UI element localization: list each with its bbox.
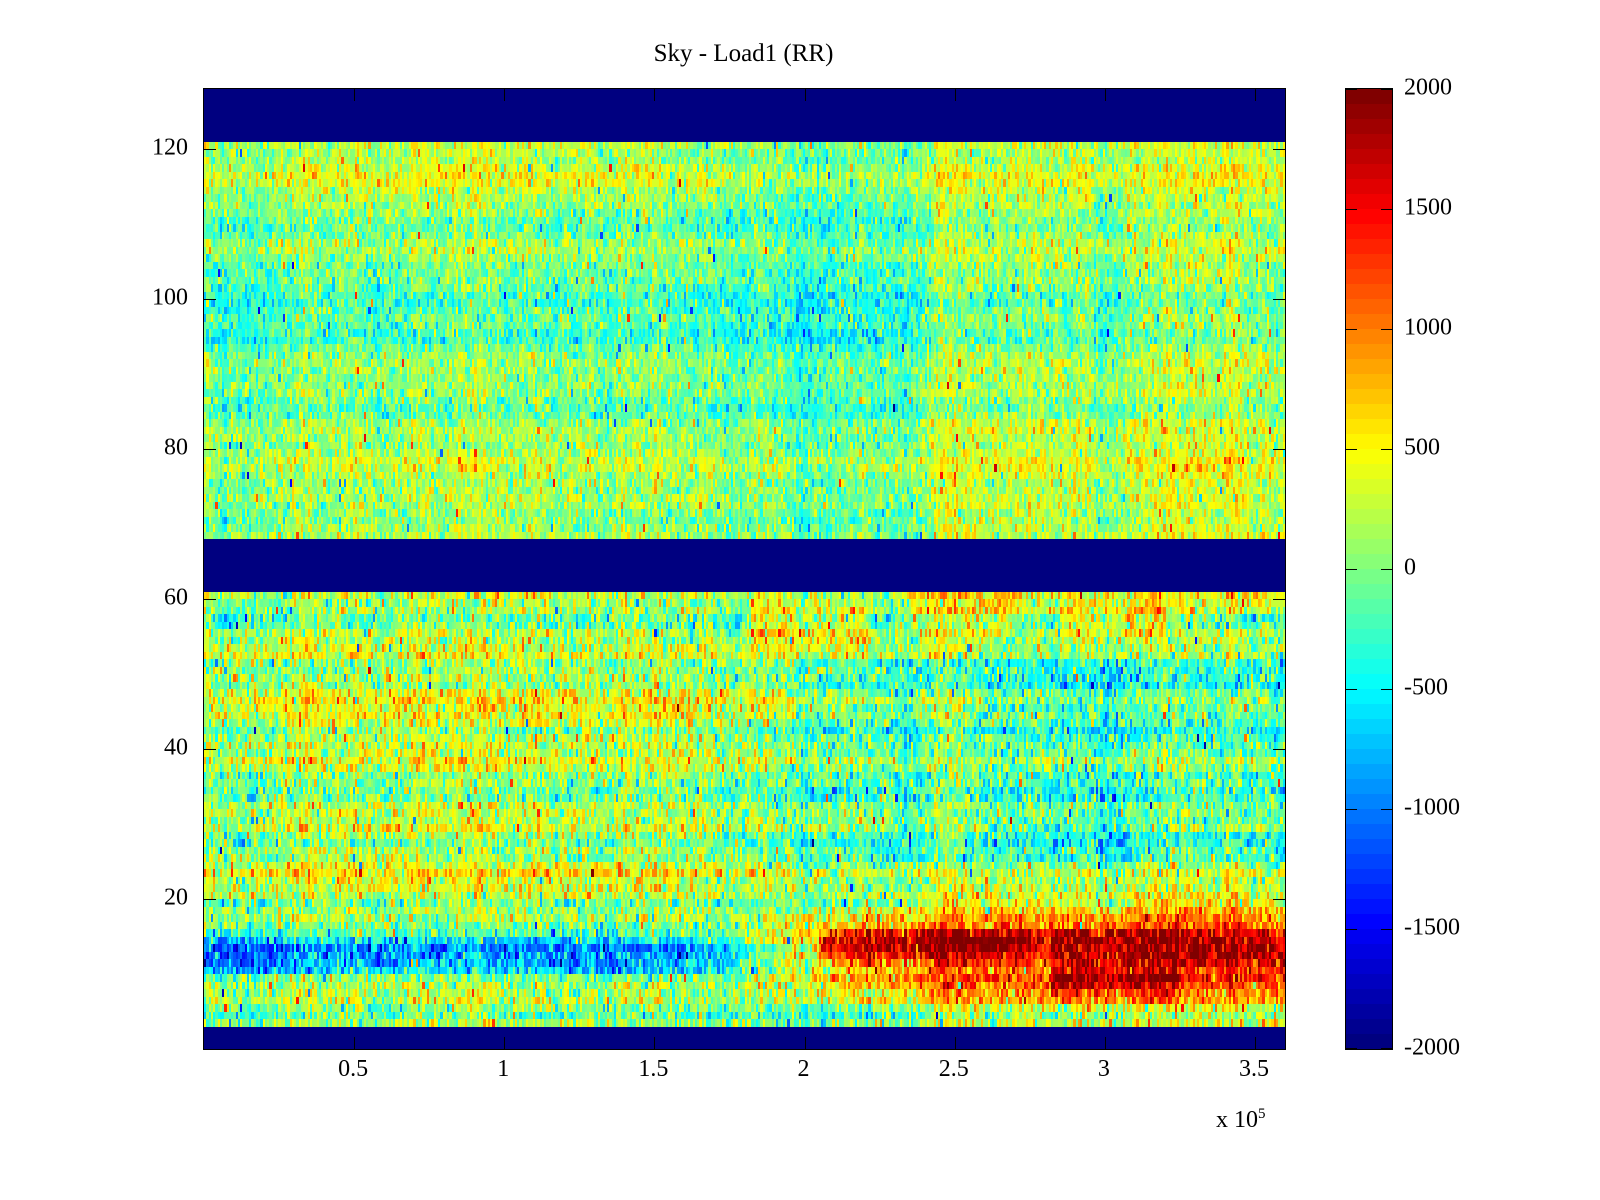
colorbar-tick — [1381, 449, 1392, 450]
colorbar-tick — [1381, 329, 1392, 330]
x-axis-exponent-label: x 105 — [1216, 1106, 1266, 1134]
y-axis-tick — [204, 899, 216, 900]
colorbar-tick — [1346, 689, 1357, 690]
x-axis-tick — [654, 1037, 655, 1049]
colorbar-tick-label: -2000 — [1404, 1035, 1460, 1062]
x-axis-tick — [504, 89, 505, 101]
colorbar-tick-label: 1500 — [1404, 195, 1452, 222]
colorbar[interactable] — [1345, 88, 1393, 1050]
y-axis-tick — [204, 749, 216, 750]
x-axis-tick-label: 0.5 — [338, 1056, 368, 1083]
y-axis-tick-label: 60 — [164, 585, 188, 612]
x-axis-tick-label: 1 — [497, 1056, 509, 1083]
y-axis-tick-label: 100 — [152, 285, 188, 312]
page-title: Sky - Load1 (RR) — [203, 40, 1284, 68]
x-exponent-base: x 10 — [1216, 1107, 1258, 1133]
y-axis-tick-label: 120 — [152, 135, 188, 162]
x-axis-tick — [1255, 1037, 1256, 1049]
colorbar-tick — [1346, 449, 1357, 450]
x-exponent-power: 5 — [1258, 1106, 1266, 1122]
colorbar-tick — [1381, 209, 1392, 210]
colorbar-tick — [1346, 89, 1357, 90]
y-axis-tick — [204, 149, 216, 150]
colorbar-tick-label: 1000 — [1404, 315, 1452, 342]
y-axis-tick — [1273, 299, 1285, 300]
colorbar-tick-label: -1000 — [1404, 795, 1460, 822]
x-axis-tick — [1105, 89, 1106, 101]
x-axis-tick — [805, 1037, 806, 1049]
y-axis-tick-label: 80 — [164, 435, 188, 462]
colorbar-tick-label: -1500 — [1404, 915, 1460, 942]
x-axis-tick — [354, 89, 355, 101]
y-axis-tick — [1273, 899, 1285, 900]
colorbar-tick-label: 500 — [1404, 435, 1440, 462]
colorbar-tick — [1381, 929, 1392, 930]
colorbar-tick — [1346, 1048, 1357, 1049]
colorbar-tick — [1381, 569, 1392, 570]
x-axis-tick-label: 3.5 — [1239, 1056, 1269, 1083]
x-axis-tick — [955, 89, 956, 101]
x-axis-tick-label: 1.5 — [638, 1056, 668, 1083]
y-axis-tick — [1273, 149, 1285, 150]
heatmap-image — [204, 89, 1285, 1049]
x-axis-tick — [654, 89, 655, 101]
colorbar-tick — [1346, 569, 1357, 570]
colorbar-tick — [1381, 809, 1392, 810]
colorbar-tick — [1346, 809, 1357, 810]
y-axis-tick-label: 40 — [164, 735, 188, 762]
colorbar-tick — [1346, 929, 1357, 930]
y-axis-tick — [1273, 599, 1285, 600]
x-axis-tick — [504, 1037, 505, 1049]
colorbar-tick-label: 0 — [1404, 555, 1416, 582]
x-axis-tick — [1105, 1037, 1106, 1049]
colorbar-tick — [1381, 1048, 1392, 1049]
x-axis-tick — [805, 89, 806, 101]
y-axis-tick — [204, 299, 216, 300]
heatmap-axes[interactable] — [203, 88, 1286, 1050]
matlab-figure-window: Sky - Load1 (RR) 204060801001200.511.522… — [0, 0, 1600, 1200]
x-axis-tick-label: 2 — [798, 1056, 810, 1083]
colorbar-tick-label: 2000 — [1404, 75, 1452, 102]
y-axis-tick — [204, 599, 216, 600]
colorbar-tick — [1346, 209, 1357, 210]
x-axis-tick — [955, 1037, 956, 1049]
colorbar-tick — [1381, 89, 1392, 90]
y-axis-tick — [1273, 449, 1285, 450]
colorbar-tick-label: -500 — [1404, 675, 1448, 702]
colorbar-tick — [1346, 329, 1357, 330]
y-axis-tick — [204, 449, 216, 450]
x-axis-tick-label: 3 — [1098, 1056, 1110, 1083]
y-axis-tick — [1273, 749, 1285, 750]
y-axis-tick-label: 20 — [164, 885, 188, 912]
x-axis-tick-label: 2.5 — [939, 1056, 969, 1083]
colorbar-tick — [1381, 689, 1392, 690]
x-axis-tick — [354, 1037, 355, 1049]
x-axis-tick — [1255, 89, 1256, 101]
